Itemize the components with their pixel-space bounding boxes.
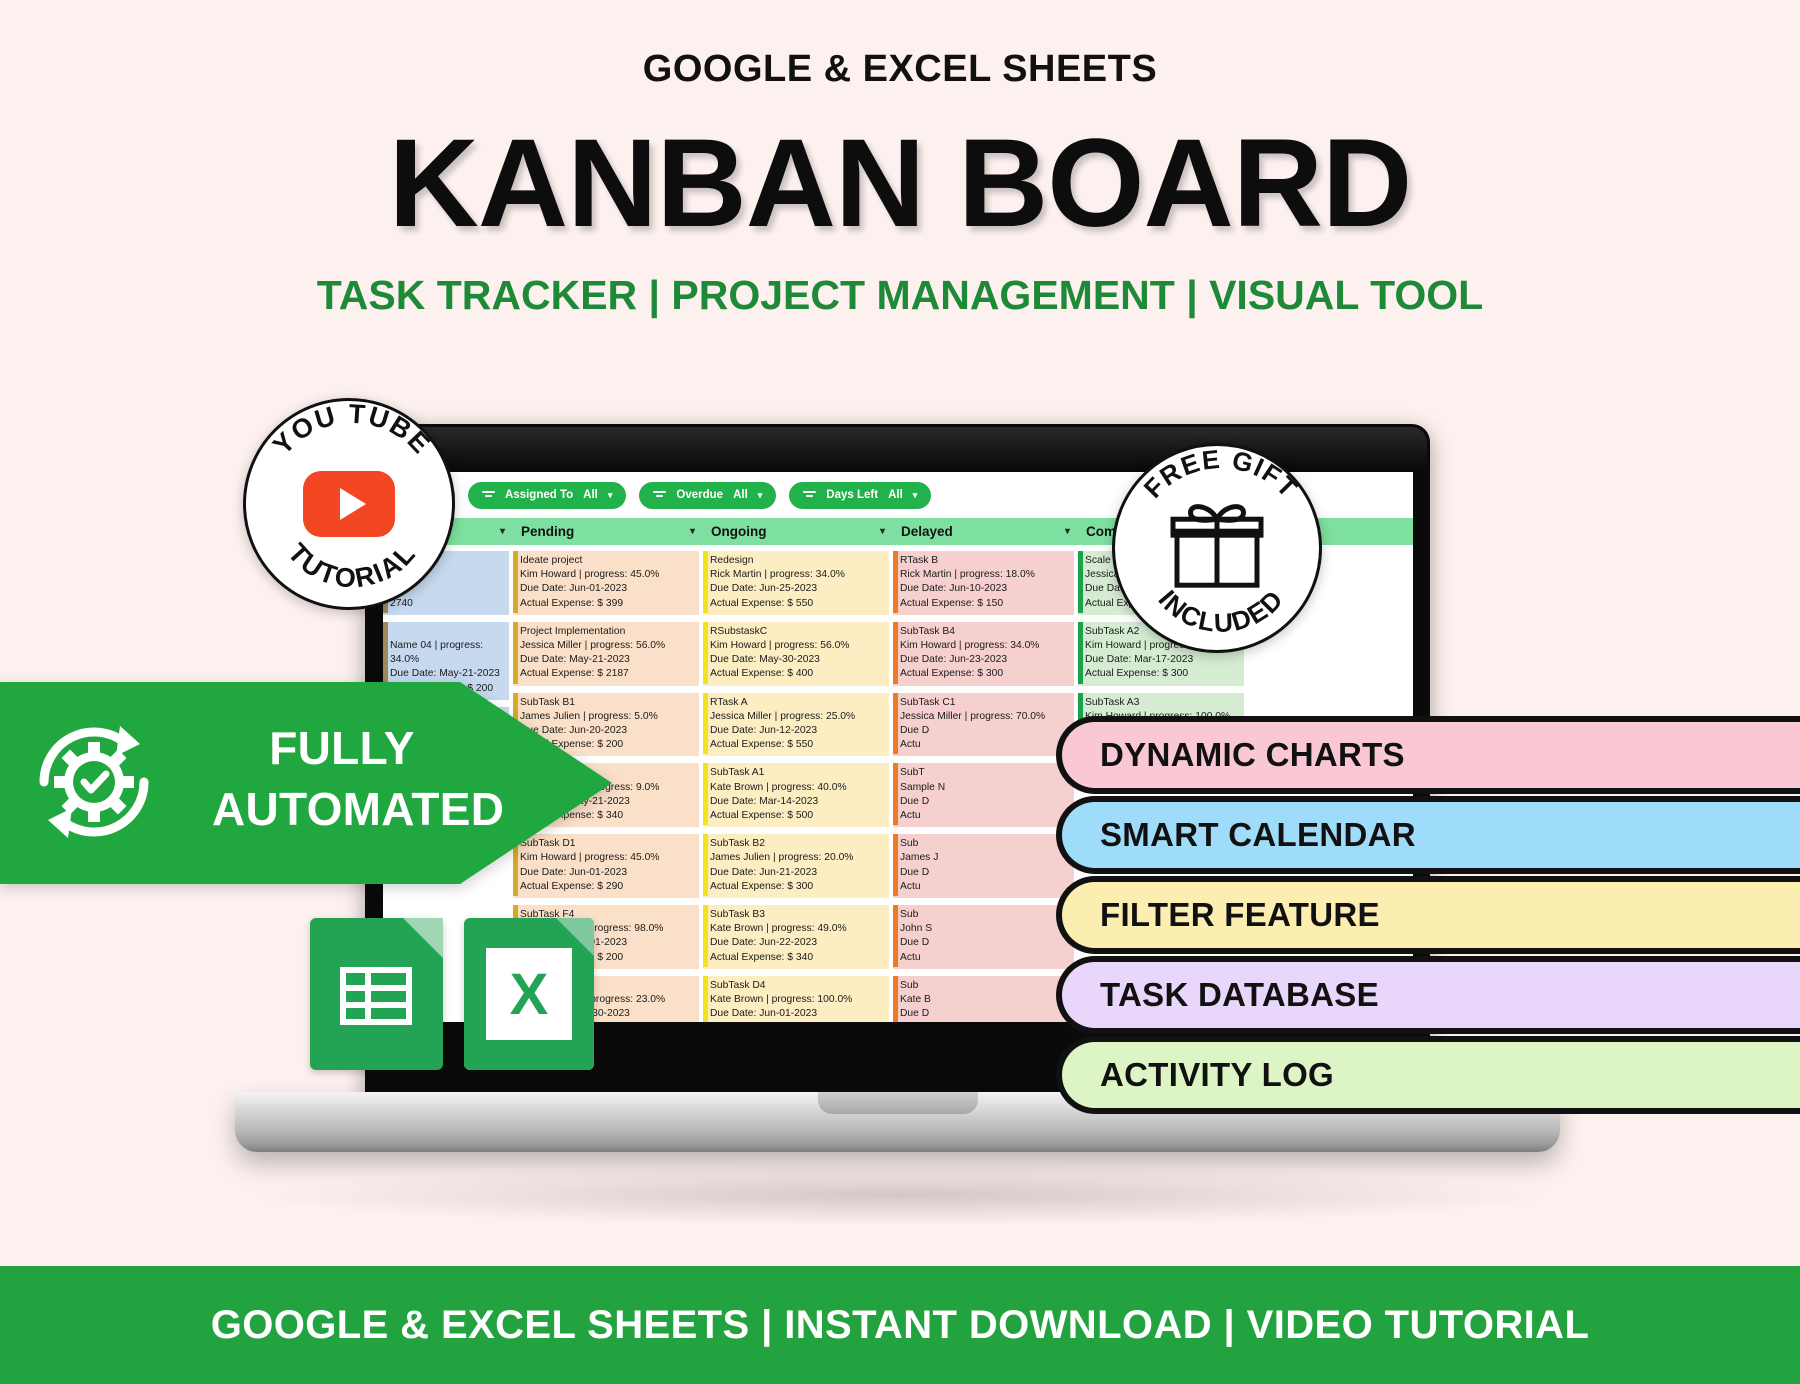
laptop-trackpad-notch bbox=[818, 1092, 978, 1114]
card-title: SubTask D4 bbox=[710, 979, 884, 993]
card-assignee-progress: Name 04 | progress: 34.0% bbox=[390, 639, 504, 667]
feature-banner-label: SMART CALENDAR bbox=[1100, 816, 1416, 854]
kanban-card[interactable]: SubTask C1Jessica Miller | progress: 70.… bbox=[893, 693, 1074, 757]
feature-banner-activity-log: ACTIVITY LOG bbox=[1056, 1036, 1800, 1114]
card-assignee-progress: James J bbox=[900, 851, 1069, 865]
card-expense: Actu bbox=[900, 1021, 1069, 1022]
svg-text:YOU TUBE: YOU TUBE bbox=[267, 401, 437, 460]
excel-icon: X bbox=[464, 918, 594, 1070]
card-assignee-progress: John S bbox=[900, 922, 1069, 936]
card-due-date: Due D bbox=[900, 724, 1069, 738]
svg-text:TUTORIAL: TUTORIAL bbox=[282, 538, 422, 594]
filter-pill-overdue[interactable]: OverdueAll▾ bbox=[639, 482, 776, 509]
card-color-bar bbox=[513, 622, 518, 684]
kanban-card[interactable]: SubKate BDue DActu bbox=[893, 976, 1074, 1022]
svg-text:FREE GIFT: FREE GIFT bbox=[1138, 446, 1304, 504]
card-color-bar bbox=[893, 551, 898, 613]
kanban-column-header-delayed[interactable]: Delayed▾ bbox=[893, 518, 1078, 545]
card-color-bar bbox=[1078, 551, 1083, 613]
eyebrow-text: GOOGLE & EXCEL SHEETS bbox=[0, 48, 1800, 91]
kanban-card[interactable]: RSubstaskCKim Howard | progress: 56.0%Du… bbox=[703, 622, 889, 686]
kanban-card[interactable]: RTask AJessica Miller | progress: 25.0%D… bbox=[703, 693, 889, 757]
kanban-card[interactable]: Ideate projectKim Howard | progress: 45.… bbox=[513, 551, 699, 615]
card-assignee-progress: Kim Howard | progress: 56.0% bbox=[710, 639, 884, 653]
card-expense: Actual Expense: $ 217 bbox=[710, 1021, 884, 1022]
card-due-date: Due Date: Jun-21-2023 bbox=[710, 866, 884, 880]
card-color-bar bbox=[893, 834, 898, 896]
card-expense: Actu bbox=[900, 738, 1069, 752]
card-expense: Actual Expense: $ 550 bbox=[710, 597, 884, 611]
card-expense: Actual Expense: $ 500 bbox=[710, 809, 884, 823]
card-expense: Actual Expense: $ 550 bbox=[710, 738, 884, 752]
card-assignee-progress: Kate Brown | progress: 49.0% bbox=[710, 922, 884, 936]
card-color-bar bbox=[513, 551, 518, 613]
page-title: KANBAN BOARD bbox=[0, 118, 1800, 249]
card-title: SubTask A1 bbox=[710, 766, 884, 780]
card-color-bar bbox=[703, 976, 708, 1022]
youtube-tutorial-badge[interactable]: YOU TUBE TUTORIAL bbox=[243, 398, 455, 610]
fully-automated-line2: AUTOMATED bbox=[212, 779, 472, 840]
fully-automated-line1: FULLY bbox=[212, 718, 472, 779]
chevron-down-icon: ▾ bbox=[608, 490, 613, 501]
filter-value: All bbox=[583, 489, 598, 501]
filter-icon bbox=[482, 490, 495, 500]
card-title: RTask A bbox=[710, 696, 884, 710]
card-title: Sub bbox=[900, 837, 1069, 851]
filter-label: Overdue bbox=[676, 489, 723, 501]
filter-value: All bbox=[888, 489, 903, 501]
card-title: Redesign bbox=[710, 554, 884, 568]
card-due-date: Due Date: Jun-22-2023 bbox=[710, 936, 884, 950]
card-due-date: Due Date: Jun-01-2023 bbox=[520, 582, 694, 596]
card-due-date: Due Date: Jun-10-2023 bbox=[900, 582, 1069, 596]
kanban-column-title: Pending bbox=[513, 524, 574, 539]
card-title: SubTask B2 bbox=[710, 837, 884, 851]
card-assignee-progress: Kate B bbox=[900, 993, 1069, 1007]
chevron-down-icon[interactable]: ▾ bbox=[1065, 526, 1070, 537]
chevron-down-icon: ▾ bbox=[913, 490, 918, 501]
kanban-column-header-pending[interactable]: Pending▾ bbox=[513, 518, 703, 545]
bottom-banner: GOOGLE & EXCEL SHEETS | INSTANT DOWNLOAD… bbox=[0, 1266, 1800, 1384]
card-expense: Actual Expense: $ 300 bbox=[900, 667, 1069, 681]
card-assignee-progress: Jessica Miller | progress: 56.0% bbox=[520, 639, 694, 653]
card-color-bar bbox=[893, 693, 898, 755]
card-title: SubTask B4 bbox=[900, 625, 1069, 639]
card-due-date: Due D bbox=[900, 1007, 1069, 1021]
card-expense: Actual Expense: $ 340 bbox=[710, 951, 884, 965]
filter-label: Days Left bbox=[826, 489, 878, 501]
page-subtitle: TASK TRACKER | PROJECT MANAGEMENT | VISU… bbox=[0, 272, 1800, 319]
free-gift-badge[interactable]: FREE GIFT INCLUDED bbox=[1112, 443, 1322, 653]
card-due-date: Due Date: May-21-2023 bbox=[390, 667, 504, 681]
card-color-bar bbox=[893, 976, 898, 1022]
card-title: RSubstaskC bbox=[710, 625, 884, 639]
card-assignee-progress: Rick Martin | progress: 18.0% bbox=[900, 568, 1069, 582]
card-due-date: Due Date: Jun-25-2023 bbox=[710, 582, 884, 596]
card-expense: Actual Expense: $ 300 bbox=[710, 880, 884, 894]
card-assignee-progress: Sample N bbox=[900, 781, 1069, 795]
card-assignee-progress: James Julien | progress: 20.0% bbox=[710, 851, 884, 865]
kanban-column-title: Ongoing bbox=[703, 524, 766, 539]
kanban-card[interactable]: Project ImplementationJessica Miller | p… bbox=[513, 622, 699, 686]
kanban-card[interactable]: SubJohn SDue DActu bbox=[893, 905, 1074, 969]
kanban-card[interactable]: SubTask B3Kate Brown | progress: 49.0%Du… bbox=[703, 905, 889, 969]
card-due-date: Due Date: Jun-01-2023 bbox=[710, 1007, 884, 1021]
excel-x-glyph: X bbox=[486, 948, 572, 1040]
card-due-date: Due Date: May-21-2023 bbox=[520, 653, 694, 667]
feature-banner-label: TASK DATABASE bbox=[1100, 976, 1379, 1014]
chevron-down-icon[interactable]: ▾ bbox=[500, 526, 505, 537]
card-expense: Actual Expense: $ 300 bbox=[1085, 667, 1239, 681]
card-color-bar bbox=[1078, 622, 1083, 684]
fully-automated-callout: FULLY AUTOMATED bbox=[0, 682, 612, 884]
card-due-date: Due Date: Jun-23-2023 bbox=[900, 653, 1069, 667]
fully-automated-text: FULLY AUTOMATED bbox=[212, 718, 472, 839]
feature-banner-filter-feature: FILTER FEATURE bbox=[1056, 876, 1800, 954]
kanban-card[interactable]: SubTask D4Kate Brown | progress: 100.0%D… bbox=[703, 976, 889, 1022]
card-color-bar bbox=[703, 622, 708, 684]
card-color-bar bbox=[703, 693, 708, 755]
card-title bbox=[390, 625, 504, 639]
kanban-card[interactable]: SubTask A1Kate Brown | progress: 40.0%Du… bbox=[703, 763, 889, 827]
card-assignee-progress: Kate Brown | progress: 100.0% bbox=[710, 993, 884, 1007]
filter-pill-days-left[interactable]: Days LeftAll▾ bbox=[789, 482, 931, 509]
kanban-column-delayed: RTask BRick Martin | progress: 18.0%Due … bbox=[893, 545, 1078, 1022]
card-title: SubTask B3 bbox=[710, 908, 884, 922]
card-color-bar bbox=[893, 763, 898, 825]
card-due-date: Due Date: Jun-12-2023 bbox=[710, 724, 884, 738]
chevron-down-icon: ▾ bbox=[758, 490, 763, 501]
card-due-date: Due D bbox=[900, 936, 1069, 950]
card-color-bar bbox=[703, 551, 708, 613]
feature-banner-task-database: TASK DATABASE bbox=[1056, 956, 1800, 1034]
card-title: SubTask A3 bbox=[1085, 696, 1239, 710]
card-assignee-progress: Rick Martin | progress: 34.0% bbox=[710, 568, 884, 582]
card-color-bar bbox=[703, 763, 708, 825]
gift-icon bbox=[1169, 501, 1265, 591]
card-assignee-progress: Kim Howard | progress: 34.0% bbox=[900, 639, 1069, 653]
kanban-column-header-ongoing[interactable]: Ongoing▾ bbox=[703, 518, 893, 545]
card-color-bar bbox=[703, 905, 708, 967]
filter-icon bbox=[803, 490, 816, 500]
card-due-date: Due D bbox=[900, 866, 1069, 880]
kanban-column-ongoing: RedesignRick Martin | progress: 34.0%Due… bbox=[703, 545, 893, 1022]
card-due-date: Due D bbox=[900, 795, 1069, 809]
kanban-card[interactable]: RTask BRick Martin | progress: 18.0%Due … bbox=[893, 551, 1074, 615]
kanban-card[interactable]: SubTSample NDue DActu bbox=[893, 763, 1074, 827]
youtube-play-icon bbox=[303, 471, 395, 537]
kanban-card[interactable]: RedesignRick Martin | progress: 34.0%Due… bbox=[703, 551, 889, 615]
card-assignee-progress: Jessica Miller | progress: 25.0% bbox=[710, 710, 884, 724]
laptop-shadow bbox=[255, 1165, 1545, 1225]
kanban-card[interactable]: SubTask B2James Julien | progress: 20.0%… bbox=[703, 834, 889, 898]
kanban-column-title: Delayed bbox=[893, 524, 953, 539]
card-color-bar bbox=[893, 905, 898, 967]
filter-icon bbox=[653, 490, 666, 500]
card-expense: Actu bbox=[900, 951, 1069, 965]
card-title: Sub bbox=[900, 908, 1069, 922]
card-color-bar bbox=[893, 622, 898, 684]
google-sheets-icon bbox=[310, 918, 443, 1070]
feature-banner-smart-calendar: SMART CALENDAR bbox=[1056, 796, 1800, 874]
card-expense: Actual Expense: $ 400 bbox=[710, 667, 884, 681]
card-title: Project Implementation bbox=[520, 625, 694, 639]
card-title: SubTask C1 bbox=[900, 696, 1069, 710]
card-title: RTask B bbox=[900, 554, 1069, 568]
automation-gear-icon bbox=[28, 716, 160, 848]
feature-banner-label: ACTIVITY LOG bbox=[1100, 1056, 1334, 1094]
chevron-down-icon[interactable]: ▾ bbox=[880, 526, 885, 537]
card-assignee-progress: Kate Brown | progress: 40.0% bbox=[710, 781, 884, 795]
kanban-card[interactable]: SubJames JDue DActu bbox=[893, 834, 1074, 898]
card-expense: Actu bbox=[900, 809, 1069, 823]
filter-label: Assigned To bbox=[505, 489, 573, 501]
feature-banner-label: FILTER FEATURE bbox=[1100, 896, 1380, 934]
feature-banner-dynamic-charts: DYNAMIC CHARTS bbox=[1056, 716, 1800, 794]
card-title: Sub bbox=[900, 979, 1069, 993]
feature-banner-label: DYNAMIC CHARTS bbox=[1100, 736, 1405, 774]
card-expense: Actual Expense: $ 2187 bbox=[520, 667, 694, 681]
card-due-date: Due Date: May-30-2023 bbox=[710, 653, 884, 667]
card-expense: Actual Expense: $ 150 bbox=[900, 597, 1069, 611]
card-assignee-progress: Jessica Miller | progress: 70.0% bbox=[900, 710, 1069, 724]
feature-banner-list: DYNAMIC CHARTSSMART CALENDARFILTER FEATU… bbox=[1056, 716, 1800, 1116]
card-expense: Actu bbox=[900, 880, 1069, 894]
bottom-banner-text: GOOGLE & EXCEL SHEETS | INSTANT DOWNLOAD… bbox=[211, 1303, 1590, 1348]
card-due-date: Due Date: Mar-14-2023 bbox=[710, 795, 884, 809]
filter-value: All bbox=[733, 489, 748, 501]
card-title: SubT bbox=[900, 766, 1069, 780]
card-expense: Actual Expense: $ 399 bbox=[520, 597, 694, 611]
chevron-down-icon[interactable]: ▾ bbox=[690, 526, 695, 537]
kanban-card[interactable]: SubTask B4Kim Howard | progress: 34.0%Du… bbox=[893, 622, 1074, 686]
card-assignee-progress: Kim Howard | progress: 45.0% bbox=[520, 568, 694, 582]
card-title: Ideate project bbox=[520, 554, 694, 568]
svg-text:INCLUDED: INCLUDED bbox=[1152, 584, 1289, 639]
card-color-bar bbox=[703, 834, 708, 896]
sheets-grid-glyph bbox=[310, 918, 443, 1070]
filter-pill-assigned-to[interactable]: Assigned ToAll▾ bbox=[468, 482, 626, 509]
